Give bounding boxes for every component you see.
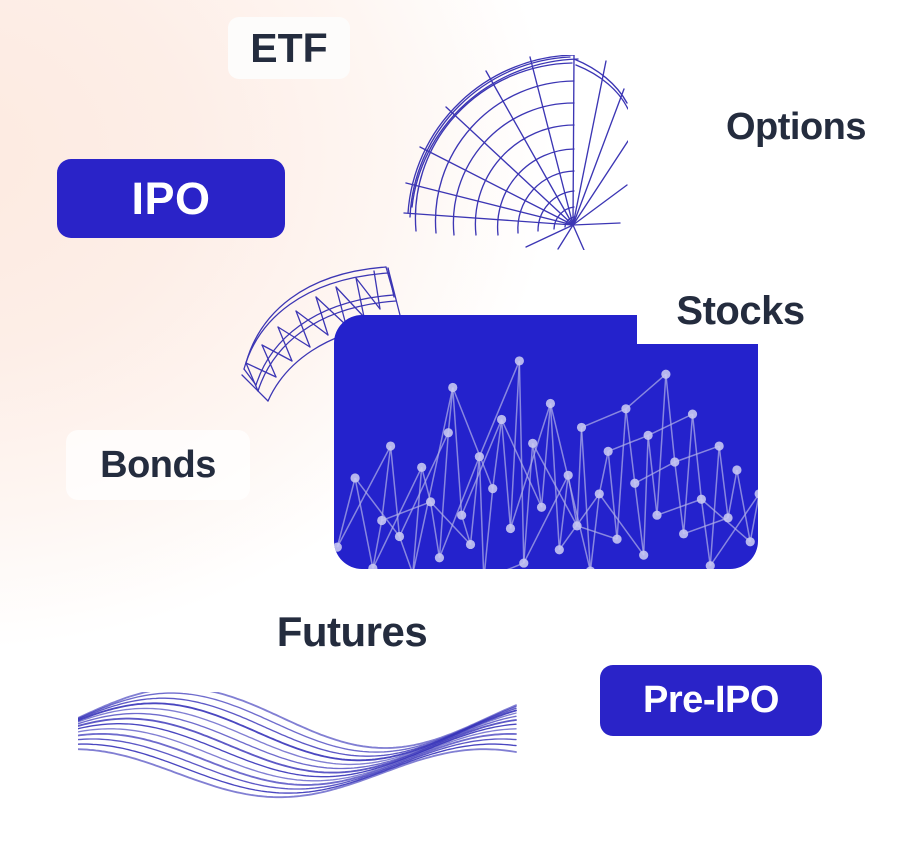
- tag-options[interactable]: Options: [710, 99, 882, 155]
- tag-etf[interactable]: ETF: [228, 17, 350, 79]
- tag-futures-label: Futures: [277, 608, 428, 656]
- tag-pre-ipo[interactable]: Pre-IPO: [600, 665, 822, 736]
- tag-futures[interactable]: Futures: [258, 600, 446, 664]
- tag-stocks[interactable]: Stocks: [637, 279, 844, 344]
- tag-bonds[interactable]: Bonds: [66, 430, 250, 500]
- polar-grid-wireframe-icon: [398, 55, 628, 250]
- tag-stocks-label: Stocks: [676, 289, 804, 334]
- sine-wave-bundle-icon: [78, 692, 518, 810]
- promo-canvas: ETF IPO Options Bonds Futures Pre-IPO St…: [0, 0, 900, 858]
- tag-ipo[interactable]: IPO: [57, 159, 285, 238]
- tag-ipo-label: IPO: [131, 173, 210, 225]
- network-graph-card[interactable]: [334, 315, 758, 569]
- tag-etf-label: ETF: [250, 25, 327, 72]
- tag-bonds-label: Bonds: [100, 444, 216, 487]
- tag-pre-ipo-label: Pre-IPO: [643, 679, 779, 722]
- tag-options-label: Options: [726, 106, 866, 149]
